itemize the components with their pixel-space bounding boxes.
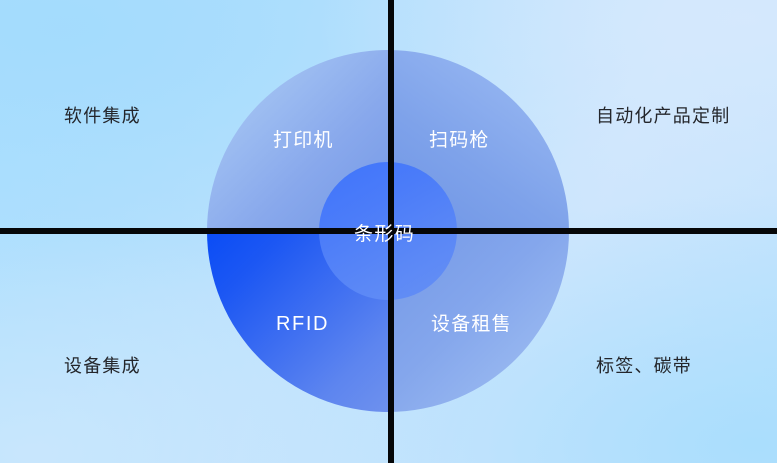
diagram-canvas: 打印机 扫码枪 RFID 设备租售 条形码 软件集成 自动化产品定制 设备集成 … [0, 0, 777, 463]
center-label-barcode: 条形码 [354, 225, 415, 244]
outer-label-software-integration: 软件集成 [64, 107, 141, 125]
outer-label-automation-product-customization: 自动化产品定制 [596, 107, 730, 125]
outer-label-labels-and-ribbons: 标签、碳带 [596, 357, 692, 375]
quadrant-label-rfid: RFID [276, 314, 329, 334]
quadrant-label-printer: 打印机 [273, 131, 334, 150]
quadrant-label-scanner: 扫码枪 [429, 131, 490, 150]
quadrant-label-equipment-rental: 设备租售 [431, 315, 512, 334]
outer-label-device-integration: 设备集成 [64, 357, 141, 375]
